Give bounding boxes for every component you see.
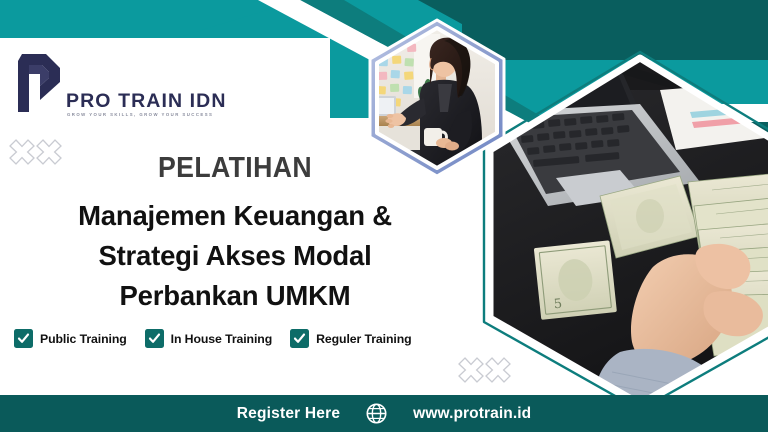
badge-reguler-training[interactable]: Reguler Training — [290, 329, 411, 348]
brand-tagline: GROW YOUR SKILLS, GROW YOUR SUCCESS — [67, 112, 213, 117]
check-icon — [14, 329, 33, 348]
x-decoration-icon — [485, 357, 511, 383]
eyebrow-label: PELATIHAN — [19, 152, 451, 185]
register-here-label[interactable]: Register Here — [237, 405, 340, 423]
globe-icon — [366, 403, 387, 424]
title-line-3: Perbankan UMKM — [0, 276, 470, 316]
check-icon — [290, 329, 309, 348]
training-promo-poster: 5 — [0, 0, 768, 432]
pro-train-chevron-logo-icon — [16, 52, 64, 114]
title-line-2: Strategi Akses Modal — [0, 236, 470, 276]
badge-label: Reguler Training — [316, 332, 411, 346]
brand-logo[interactable]: PRO TRAIN IDN GROW YOUR SKILLS, GROW YOU… — [14, 52, 184, 130]
badge-label: In House Training — [171, 332, 272, 346]
x-cluster-bottom-right — [458, 357, 511, 383]
badge-in-house-training[interactable]: In House Training — [145, 329, 272, 348]
badge-public-training[interactable]: Public Training — [14, 329, 127, 348]
check-icon — [145, 329, 164, 348]
website-url[interactable]: www.protrain.id — [413, 405, 531, 423]
brand-name: PRO TRAIN IDN — [66, 90, 227, 113]
page-title: Manajemen Keuangan & Strategi Akses Moda… — [0, 196, 470, 316]
footer-bar: Register Here www.protrain.id — [0, 395, 768, 432]
title-line-1: Manajemen Keuangan & — [0, 196, 470, 236]
badge-label: Public Training — [40, 332, 127, 346]
x-decoration-icon — [458, 357, 484, 383]
training-type-badges: Public Training In House Training Regule… — [14, 329, 412, 348]
svg-text:5: 5 — [553, 297, 563, 313]
